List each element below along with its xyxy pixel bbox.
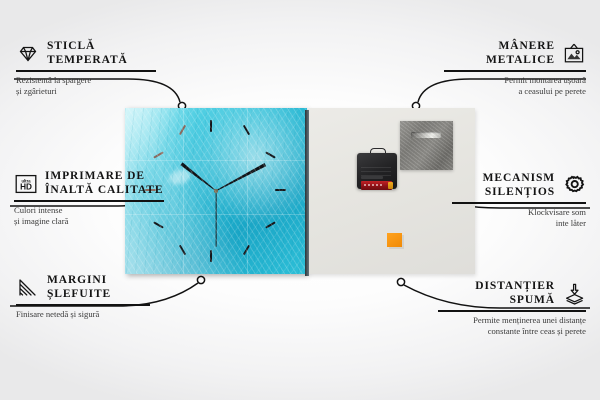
callout-subtitle: Klockvisare sominte låter bbox=[452, 207, 586, 229]
callout-heading-row: MARGINIȘLEFUITE bbox=[16, 274, 150, 301]
mechanism-texture bbox=[361, 164, 391, 176]
beveled-edge-icon bbox=[16, 276, 40, 300]
glass-seam bbox=[125, 160, 307, 161]
callout-heading-row: MÂNEREMETALICE bbox=[444, 40, 586, 67]
callout-subtitle: Culori intenseși imagine clară bbox=[14, 205, 164, 227]
clock-tick bbox=[265, 151, 276, 158]
infographic-stage: STICLĂTEMPERATĂ Rezistentă la spargereși… bbox=[0, 0, 600, 400]
clock-second-hand bbox=[215, 191, 216, 247]
clock-tick bbox=[275, 189, 286, 191]
callout-subtitle: Rezistentă la spargereși zgârieturi bbox=[16, 75, 156, 97]
callout-divider bbox=[452, 202, 586, 203]
callout-divider bbox=[14, 200, 164, 201]
callout-heading-row: MECANISMSILENȚIOS bbox=[452, 172, 586, 199]
endpoint-distantier bbox=[397, 278, 404, 285]
callout-title: DISTANȚIERSPUMĂ bbox=[475, 280, 555, 307]
callout-heading-row: STICLĂTEMPERATĂ bbox=[16, 40, 156, 67]
clock-minute-hand bbox=[215, 163, 266, 192]
callout-margini-slefuite: MARGINIȘLEFUITE Finisare netedă și sigur… bbox=[16, 274, 150, 320]
clock-tick bbox=[243, 245, 250, 256]
glass-glare bbox=[167, 167, 192, 187]
clock-tick bbox=[243, 125, 250, 136]
clock-back-panel bbox=[309, 108, 475, 274]
battery-terminal bbox=[388, 182, 393, 189]
callout-subtitle: Permite menținerea unei distanțeconstant… bbox=[438, 315, 586, 337]
diamond-icon bbox=[16, 42, 40, 66]
glass-seam bbox=[247, 108, 248, 274]
callout-heading-row: DISTANȚIERSPUMĂ bbox=[438, 280, 586, 307]
clock-tick bbox=[210, 120, 212, 132]
clock-tick bbox=[153, 151, 164, 158]
callout-distantier-spuma: DISTANȚIERSPUMĂ Permite menținerea unei … bbox=[438, 280, 586, 337]
callout-title: STICLĂTEMPERATĂ bbox=[47, 40, 128, 67]
callout-imprimare-hd: ultra HD IMPRIMARE DEÎNALTĂ CALITATE Cul… bbox=[14, 170, 164, 227]
foam-spacer-icon bbox=[562, 282, 586, 306]
clock-center-pin bbox=[214, 189, 218, 193]
callout-title: MARGINIȘLEFUITE bbox=[47, 274, 111, 301]
picture-hanger-icon bbox=[562, 42, 586, 66]
callout-divider bbox=[16, 304, 150, 305]
callout-divider bbox=[438, 310, 586, 311]
mechanism-body bbox=[357, 153, 397, 189]
callout-manere-metalice: MÂNEREMETALICE Permit montarea ușoarăa c… bbox=[444, 40, 586, 97]
callout-divider bbox=[16, 70, 156, 71]
clock-tick bbox=[265, 221, 276, 228]
clock-tick bbox=[179, 125, 186, 136]
glass-seam bbox=[183, 108, 184, 274]
gear-icon bbox=[562, 174, 586, 198]
callout-title: MECANISMSILENȚIOS bbox=[483, 172, 555, 199]
callout-title: MÂNEREMETALICE bbox=[486, 40, 555, 67]
foam-spacer bbox=[387, 233, 402, 247]
callout-subtitle: Permit montarea ușoarăa ceasului pe pere… bbox=[444, 75, 586, 97]
clock-tick bbox=[179, 245, 186, 256]
clock-tick bbox=[210, 250, 212, 262]
mechanism-slot bbox=[361, 176, 383, 179]
ultra-hd-icon: ultra HD bbox=[14, 172, 38, 196]
callout-divider bbox=[444, 70, 586, 71]
callout-heading-row: ultra HD IMPRIMARE DEÎNALTĂ CALITATE bbox=[14, 170, 164, 197]
callout-subtitle: Finisare netedă și sigură bbox=[16, 309, 150, 320]
endpoint-margini bbox=[197, 276, 204, 283]
callout-sticla-temperata: STICLĂTEMPERATĂ Rezistentă la spargereși… bbox=[16, 40, 156, 97]
product-image bbox=[125, 108, 475, 276]
hanger-slot bbox=[411, 132, 441, 138]
svg-text:HD: HD bbox=[20, 182, 32, 191]
metal-hanger-plate bbox=[400, 121, 453, 170]
callout-mecanism-silentios: MECANISMSILENȚIOS Klockvisare sominte lå… bbox=[452, 172, 586, 229]
callout-title: IMPRIMARE DEÎNALTĂ CALITATE bbox=[45, 170, 163, 197]
quartz-mechanism bbox=[357, 148, 397, 189]
clock-hour-hand bbox=[180, 162, 217, 192]
